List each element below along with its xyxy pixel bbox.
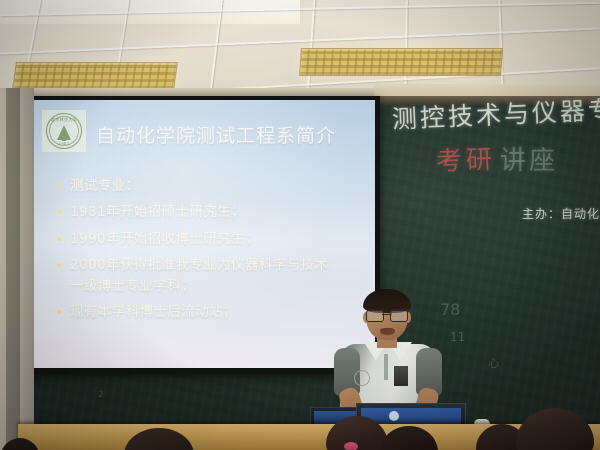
slide-bullet-list: 测试专业： 1981年开始招硕士研究生； 1990年开始招收博士研究生； 200… — [54, 178, 354, 331]
presenter-brow-left — [367, 306, 381, 308]
presenter-mouth — [380, 328, 395, 335]
slide-bullet-item: 1981年开始招硕士研究生； — [54, 204, 354, 220]
slide-bullet-item: 测试专业： — [54, 178, 354, 194]
logo-arc-bottom-text: 1952 — [47, 141, 81, 146]
eyeglasses-icon — [366, 310, 408, 321]
chalk-subheading: 讲座 — [500, 140, 558, 177]
hair-tie — [344, 442, 358, 450]
slide-bullet-item: 现有本学科博士后流动站； — [54, 304, 354, 320]
wall-left-shadow — [6, 88, 20, 450]
chalk-faint-mark-5: 2 — [98, 390, 104, 400]
presenter-shirt-logo — [354, 370, 370, 386]
chalk-faint-mark-3: 心 — [488, 355, 499, 371]
pine-tree-glyph — [57, 125, 71, 140]
university-logo: 北京林业大学 1952 — [42, 110, 86, 152]
ceiling-light-left — [12, 62, 178, 90]
chalk-red-heading: 考研 — [435, 139, 496, 178]
presenter-badge — [394, 366, 408, 386]
eyeglass-lens-right — [390, 310, 408, 322]
presenter-placket — [384, 354, 388, 380]
eyeglass-lens-left — [366, 310, 384, 322]
presenter-brow-right — [393, 306, 407, 308]
logo-arc-top-text: 北京林业大学 — [47, 117, 81, 123]
slide-bullet-item: 1990年开始招收博士研究生； — [54, 231, 354, 247]
slide-bullet-item: 2000年获得批准我专业为仪器科学与技术 — [54, 257, 354, 273]
chalk-organizer-line: 主办：自动化学院 — [522, 205, 600, 222]
projection-screen: 北京林业大学 1952 自动化学院测试工程系简介 测试专业： 1981年开始招硕… — [30, 100, 375, 368]
slide-title: 自动化学院测试工程系简介 — [96, 121, 336, 148]
pine-tree-icon: 北京林业大学 1952 — [46, 113, 82, 149]
ceiling-light-right — [299, 48, 503, 76]
lecture-hall-photo: 测控技术与仪器专 考研 讲座 主办：自动化学院 78 11 心 · 2 北京林业… — [0, 0, 600, 450]
slide-bullet-continuation: 一级博士专业学科； — [54, 278, 354, 294]
wall-strip-left — [0, 88, 34, 450]
chalk-faint-mark-2: 11 — [450, 330, 465, 344]
ceiling — [0, 0, 600, 96]
